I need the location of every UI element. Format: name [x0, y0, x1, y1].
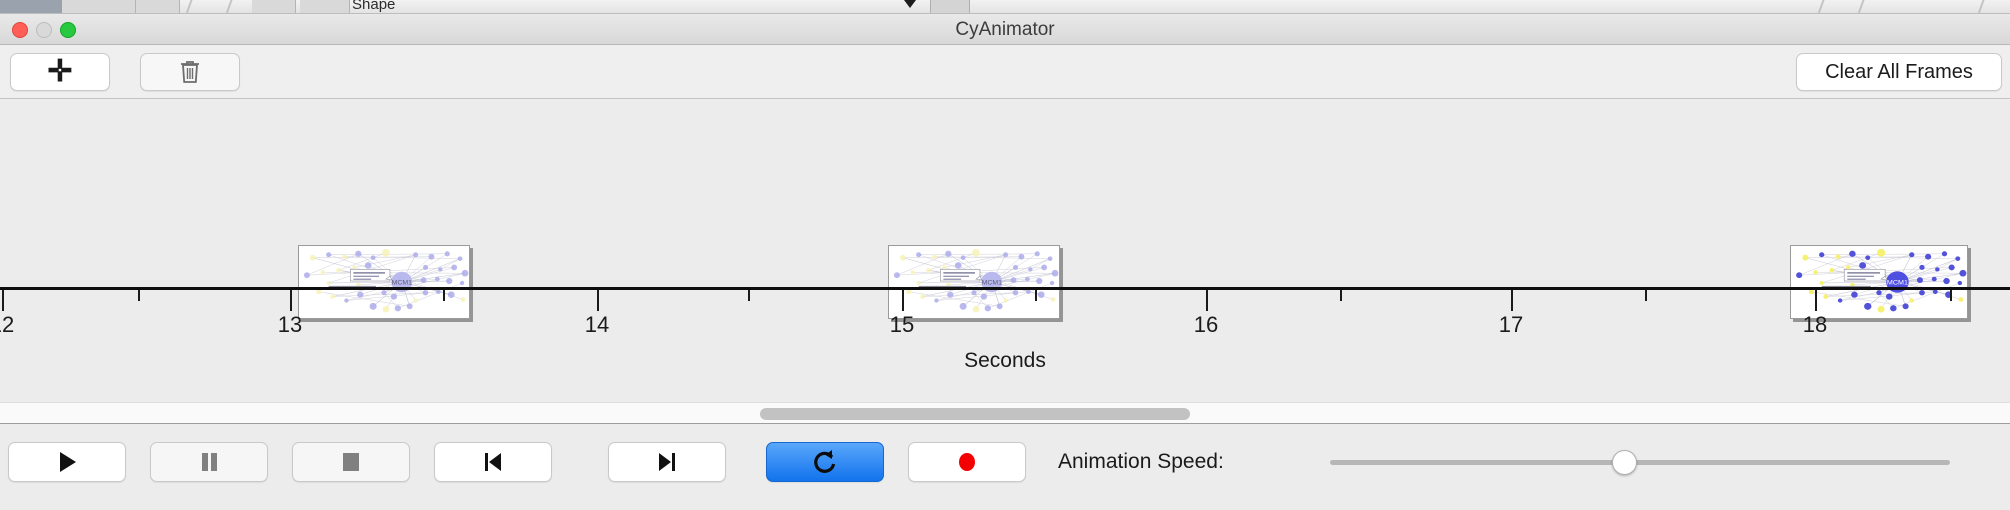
ruler-tick: [1340, 290, 1342, 301]
ruler-tick: [2, 290, 4, 311]
background-chip: [930, 0, 970, 14]
ruler-tick: [748, 290, 750, 301]
background-tab: [62, 0, 136, 14]
ruler-tick: [1035, 290, 1037, 301]
stop-icon: [338, 449, 364, 475]
plus-icon: ✛: [47, 60, 72, 84]
background-divider: [1977, 0, 1996, 14]
background-tab: [300, 0, 350, 14]
ruler-tick: [138, 290, 140, 301]
background-divider: [225, 0, 244, 14]
background-caret-icon: [904, 0, 916, 8]
background-tab: [136, 0, 180, 14]
slider-knob[interactable]: [1612, 450, 1637, 475]
play-icon: [54, 449, 80, 475]
ruler-tick-label: 18: [1803, 312, 1827, 338]
horizontal-scrollbar[interactable]: [0, 402, 2010, 424]
record-icon: [954, 449, 980, 475]
background-divider: [1817, 0, 1836, 14]
ruler-tick: [1815, 290, 1817, 311]
background-window-label: Shape: [352, 0, 395, 13]
timeline-ruler[interactable]: 12131415161718 Seconds: [0, 287, 2010, 347]
svg-text:MCM1: MCM1: [1887, 280, 1908, 287]
svg-text:MCM1: MCM1: [392, 280, 413, 287]
skip-forward-icon: [654, 449, 680, 475]
title-bar: CyAnimator: [0, 14, 2010, 45]
toolbar: ✛ Clear All Frames: [0, 45, 2010, 99]
pause-button[interactable]: [150, 442, 268, 482]
loop-button[interactable]: [766, 442, 884, 482]
pause-icon: [196, 449, 222, 475]
ruler-tick-label: 13: [278, 312, 302, 338]
background-selected-tab: [0, 0, 62, 14]
ruler-baseline: [0, 287, 2010, 290]
background-divider: [185, 0, 204, 14]
ruler-tick-label: 15: [890, 312, 914, 338]
background-tab: [252, 0, 296, 14]
ruler-tick: [290, 290, 292, 311]
svg-text:MCM1: MCM1: [982, 280, 1003, 287]
ruler-axis-label: Seconds: [0, 349, 2010, 373]
skip-to-end-button[interactable]: [608, 442, 726, 482]
cyanimator-window: CyAnimator ✛ Clear All Frames MCM1MCM1MC…: [0, 14, 2010, 510]
trash-icon: [179, 59, 201, 85]
ruler-tick: [443, 290, 445, 301]
animation-speed-slider[interactable]: [1330, 442, 1950, 482]
player-controls-bar: Animation Speed:: [0, 424, 2010, 510]
scrollbar-thumb[interactable]: [760, 408, 1190, 420]
skip-back-icon: [480, 449, 506, 475]
add-frame-button[interactable]: ✛: [10, 53, 110, 91]
ruler-tick-label: 17: [1499, 312, 1523, 338]
ruler-tick: [1206, 290, 1208, 311]
stop-button[interactable]: [292, 442, 410, 482]
ruler-tick-label: 12: [0, 312, 14, 338]
loop-icon: [811, 448, 839, 476]
ruler-tick-label: 14: [585, 312, 609, 338]
clear-all-frames-label: Clear All Frames: [1825, 61, 1973, 84]
clear-all-frames-button[interactable]: Clear All Frames: [1796, 53, 2002, 91]
background-divider: [1857, 0, 1876, 14]
ruler-tick: [902, 290, 904, 311]
ruler-tick: [1950, 290, 1952, 301]
background-window-strip: Shape: [0, 0, 2010, 14]
ruler-tick: [1511, 290, 1513, 311]
skip-to-start-button[interactable]: [434, 442, 552, 482]
slider-track[interactable]: [1330, 460, 1950, 465]
delete-frame-button[interactable]: [140, 53, 240, 91]
animation-speed-label: Animation Speed:: [1058, 442, 1224, 482]
ruler-tick: [1645, 290, 1647, 301]
timeline-panel[interactable]: MCM1MCM1MCM1 12131415161718 Seconds: [0, 99, 2010, 424]
window-title: CyAnimator: [0, 14, 2010, 45]
ruler-tick-label: 16: [1194, 312, 1218, 338]
ruler-tick: [597, 290, 599, 311]
record-button[interactable]: [908, 442, 1026, 482]
play-button[interactable]: [8, 442, 126, 482]
